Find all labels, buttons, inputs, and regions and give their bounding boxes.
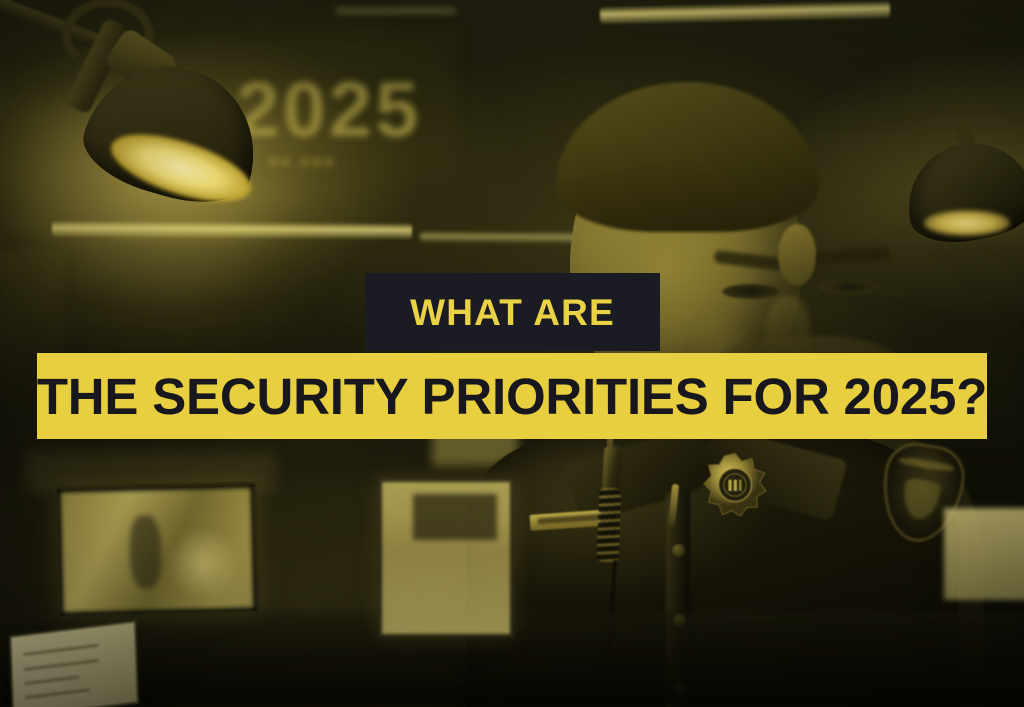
laptop-screen [9,620,139,707]
monitor-window-panel [413,494,497,540]
guard-shirt-button [672,544,685,557]
guard-brow-right [808,247,891,266]
kicker-box: WHAT ARE [365,273,660,351]
patch-shield-emblem [900,477,941,521]
guard-eye-right [818,280,880,295]
guard-brow-left [713,250,784,271]
cctv-monitor [54,482,259,619]
cctv-feed-subject [129,515,162,589]
ceiling-tube-light-top2 [336,6,456,16]
guard-ear [778,224,816,286]
laptop-text-line [25,688,89,699]
name-tag-text [538,514,605,524]
laptop-text-line [25,675,79,685]
kicker-text: WHAT ARE [410,294,615,331]
laptop-text-line [24,659,98,671]
security-priorities-banner: 2025 ■■ ■■■ [0,0,1024,707]
headline-band: THE SECURITY PRIORITIES FOR 2025? [37,353,987,439]
guard-hair [556,82,818,232]
headline-text: THE SECURITY PRIORITIES FOR 2025? [37,371,987,422]
star-badge-icon [702,452,768,518]
hanging-dome-lamp-left [0,0,280,232]
desk-monitor-center [378,478,514,638]
laptop-text-line [24,644,98,656]
background-monitor-right [944,508,1024,600]
guard-eye-left [722,284,780,299]
patch-top-text [898,456,955,473]
radio-coiled-cable [597,488,622,563]
